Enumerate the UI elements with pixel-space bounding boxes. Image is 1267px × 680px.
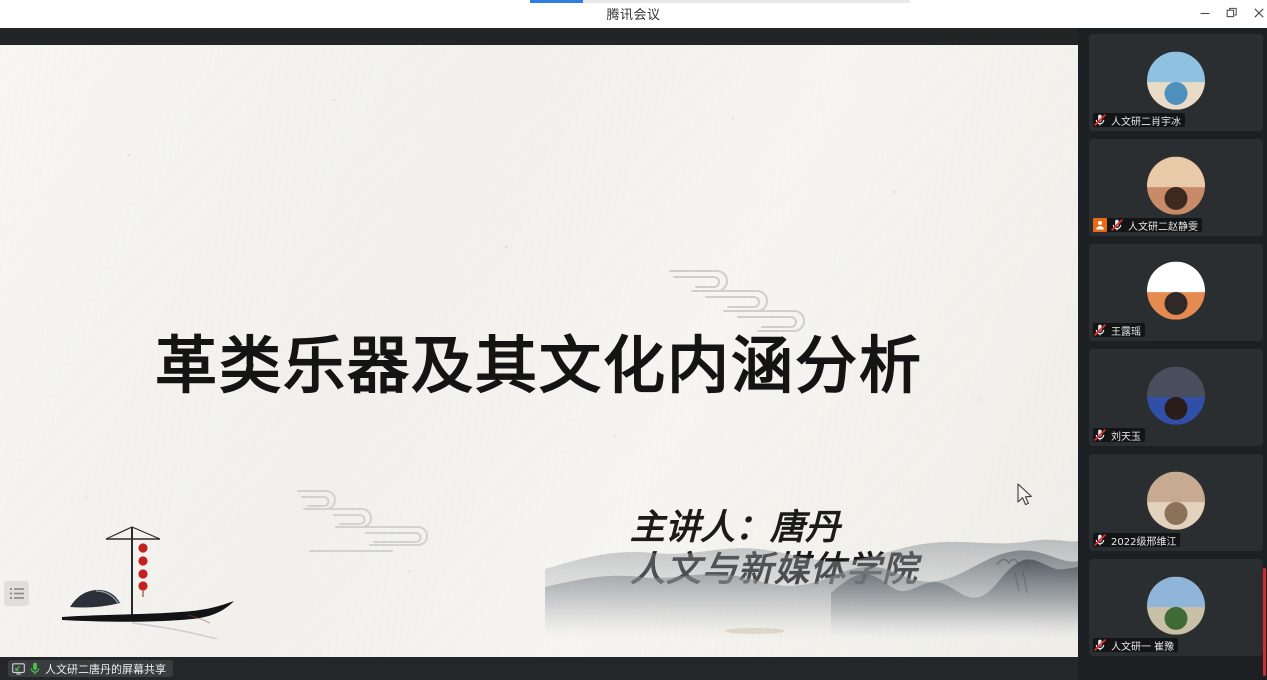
screen-share-icon	[12, 663, 25, 675]
host-badge-icon	[1093, 218, 1107, 232]
share-status-chip[interactable]: 人文研二唐丹的屏幕共享	[8, 660, 173, 677]
list-menu-icon	[9, 587, 25, 600]
participant-tile[interactable]: 2022级邢维江	[1089, 454, 1263, 551]
share-status-bar: 人文研二唐丹的屏幕共享	[0, 657, 1078, 680]
participant-tile[interactable]: 人文研二赵静雯	[1089, 139, 1263, 236]
filmstrip-scrollbar[interactable]	[1263, 568, 1266, 676]
participant-footer: 人文研二肖宇冰	[1093, 113, 1185, 127]
mouse-cursor	[1016, 483, 1034, 509]
slide-menu-button[interactable]	[4, 581, 29, 606]
restore-window-icon	[1226, 7, 1238, 19]
app-title: 腾讯会议	[0, 4, 1267, 23]
close-button[interactable]	[1246, 2, 1267, 24]
loading-progress-fill	[530, 0, 583, 3]
ink-mountain-illustration	[545, 531, 1078, 639]
participant-footer: 刘天玉	[1093, 428, 1145, 442]
minimize-button[interactable]	[1192, 2, 1218, 24]
share-status-label: 人文研二唐丹的屏幕共享	[45, 661, 166, 677]
participant-name: 2022级邢维江	[1110, 533, 1176, 548]
participant-tile[interactable]: 人文研一 崔豫	[1089, 559, 1263, 656]
avatar	[1147, 366, 1205, 424]
close-icon	[1253, 7, 1265, 19]
microphone-muted-icon	[1093, 638, 1107, 652]
microphone-icon	[30, 662, 40, 675]
participant-name: 人文研二肖宇冰	[1110, 113, 1181, 128]
participant-name: 人文研一 崔豫	[1110, 638, 1174, 653]
microphone-muted-icon	[1093, 323, 1107, 337]
participant-name: 人文研二赵静雯	[1127, 218, 1198, 233]
microphone-muted-icon	[1093, 533, 1107, 547]
maximize-restore-button[interactable]	[1219, 2, 1245, 24]
microphone-muted-icon	[1093, 113, 1107, 127]
avatar	[1147, 471, 1205, 529]
participant-footer: 2022级邢维江	[1093, 533, 1180, 547]
shared-screen-region[interactable]: 革类乐器及其文化内涵分析 主讲人：唐丹 人文与新媒体学院	[0, 28, 1078, 680]
ink-boat-illustration	[62, 519, 312, 639]
window-title-bar: 腾讯会议	[0, 0, 1267, 28]
participant-name: 王露瑶	[1110, 323, 1141, 338]
participant-footer: 王露瑶	[1093, 323, 1145, 337]
loading-progress-track	[530, 0, 910, 3]
avatar	[1147, 576, 1205, 634]
participant-name: 刘天玉	[1110, 428, 1141, 443]
participant-tile[interactable]: 王露瑶	[1089, 244, 1263, 341]
avatar	[1147, 261, 1205, 319]
participant-tile[interactable]: 刘天玉	[1089, 349, 1263, 446]
participant-footer: 人文研二赵静雯	[1093, 218, 1202, 232]
presentation-slide[interactable]: 革类乐器及其文化内涵分析 主讲人：唐丹 人文与新媒体学院	[0, 45, 1078, 657]
avatar	[1147, 156, 1205, 214]
participant-filmstrip[interactable]: 人文研二肖宇冰人文研二赵静雯王露瑶刘天玉2022级邢维江人文研一 崔豫	[1085, 28, 1267, 680]
microphone-muted-icon	[1093, 428, 1107, 442]
participant-tile[interactable]: 人文研二肖宇冰	[1089, 34, 1263, 131]
microphone-muted-icon	[1110, 218, 1124, 232]
meeting-window-body: 革类乐器及其文化内涵分析 主讲人：唐丹 人文与新媒体学院	[0, 28, 1267, 680]
minimize-icon	[1199, 7, 1211, 19]
avatar	[1147, 51, 1205, 109]
participant-footer: 人文研一 崔豫	[1093, 638, 1178, 652]
slide-title: 革类乐器及其文化内涵分析	[0, 315, 1078, 405]
